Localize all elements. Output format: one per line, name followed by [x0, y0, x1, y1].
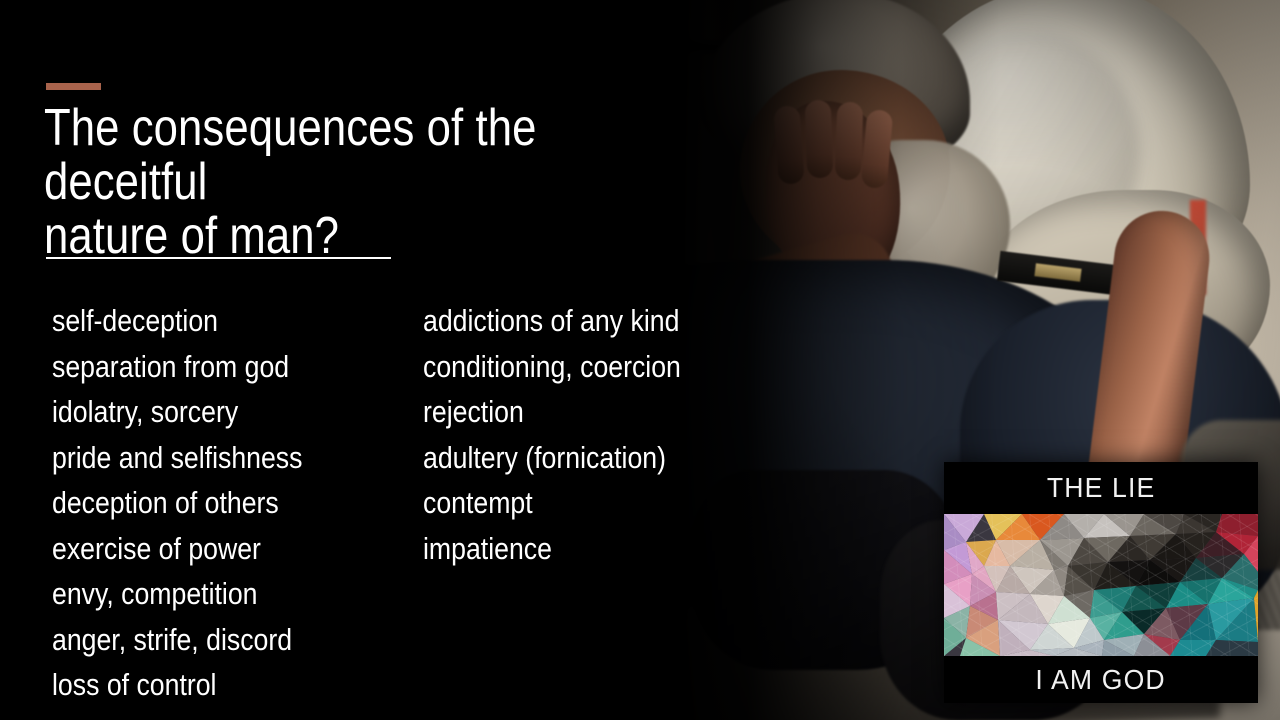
list-item: anger, strife, discord — [52, 617, 302, 663]
card-top-label: THE LIE — [1047, 472, 1156, 504]
accent-bar — [46, 83, 101, 90]
title-divider — [46, 257, 391, 259]
consequences-column-right: addictions of any kind conditioning, coe… — [423, 298, 681, 571]
list-item: impatience — [423, 526, 681, 572]
the-lie-card: THE LIE — [944, 462, 1258, 703]
list-item: adultery (fornication) — [423, 435, 681, 481]
list-item: pride and selfishness — [52, 435, 302, 481]
card-bottom-label: I AM GOD — [1036, 664, 1166, 696]
list-item: deception of others — [52, 480, 302, 526]
low-poly-eye-image — [944, 514, 1258, 656]
card-bottom-bar: I AM GOD — [944, 656, 1258, 703]
card-top-bar: THE LIE — [944, 462, 1258, 514]
list-item: addictions of any kind — [423, 298, 681, 344]
list-item: loss of control — [52, 662, 302, 708]
consequences-column-left: self-deception separation from god idola… — [52, 298, 302, 708]
list-item: separation from god — [52, 344, 302, 390]
list-item: rejection — [423, 389, 681, 435]
list-item: exercise of power — [52, 526, 302, 572]
eye-facet-sheen — [944, 514, 1258, 656]
list-item: self-deception — [52, 298, 302, 344]
list-item: contempt — [423, 480, 681, 526]
list-item: idolatry, sorcery — [52, 389, 302, 435]
list-item: envy, competition — [52, 571, 302, 617]
page-title: The consequences of the deceitful nature… — [44, 101, 632, 263]
slide-canvas: The consequences of the deceitful nature… — [0, 0, 1280, 720]
list-item: conditioning, coercion — [423, 344, 681, 390]
